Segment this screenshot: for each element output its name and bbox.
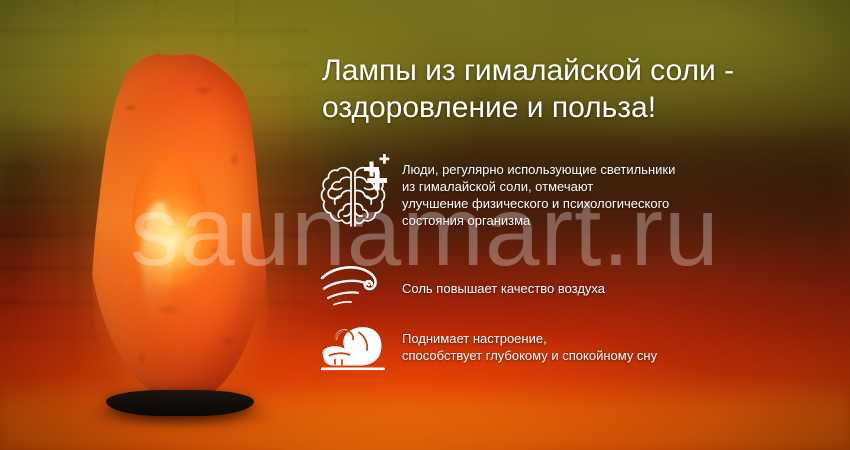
benefit-line: Соль повышает качество воздуха bbox=[402, 280, 605, 297]
benefit-line: из гималайской соли, отмечают bbox=[402, 178, 675, 195]
benefit-text-sleep-mood: Поднимает настроение, способствует глубо… bbox=[402, 322, 657, 364]
headline-line-1: Лампы из гималайской соли - bbox=[322, 52, 842, 89]
wind-icon bbox=[318, 262, 398, 308]
brain-icon bbox=[318, 154, 398, 232]
benefit-line: Поднимает настроение, bbox=[402, 330, 657, 347]
salt-lamp-promo-banner: saunamart.ru Лампы из гималайской соли -… bbox=[0, 0, 850, 450]
benefit-line: состояния организма bbox=[402, 212, 675, 229]
benefit-line: улучшение физического и психологического bbox=[402, 195, 675, 212]
benefit-line: Люди, регулярно использующие светильники bbox=[402, 161, 675, 178]
benefit-line: способствует глубокому и спокойному сну bbox=[402, 347, 657, 364]
benefit-item-sleep-mood: Поднимает настроение, способствует глубо… bbox=[318, 322, 657, 376]
page-title: Лампы из гималайской соли - оздоровление… bbox=[322, 52, 842, 126]
benefit-text-air-quality: Соль повышает качество воздуха bbox=[402, 262, 605, 297]
headline-line-2: оздоровление и польза! bbox=[322, 89, 842, 126]
benefit-item-mental-state: Люди, регулярно использующие светильники… bbox=[318, 154, 675, 232]
banner-content: Лампы из гималайской соли - оздоровление… bbox=[318, 0, 850, 450]
benefit-item-air-quality: Соль повышает качество воздуха bbox=[318, 262, 605, 308]
benefit-text-mental-state: Люди, регулярно использующие светильники… bbox=[402, 154, 675, 229]
sleeping-person-icon bbox=[318, 322, 398, 376]
